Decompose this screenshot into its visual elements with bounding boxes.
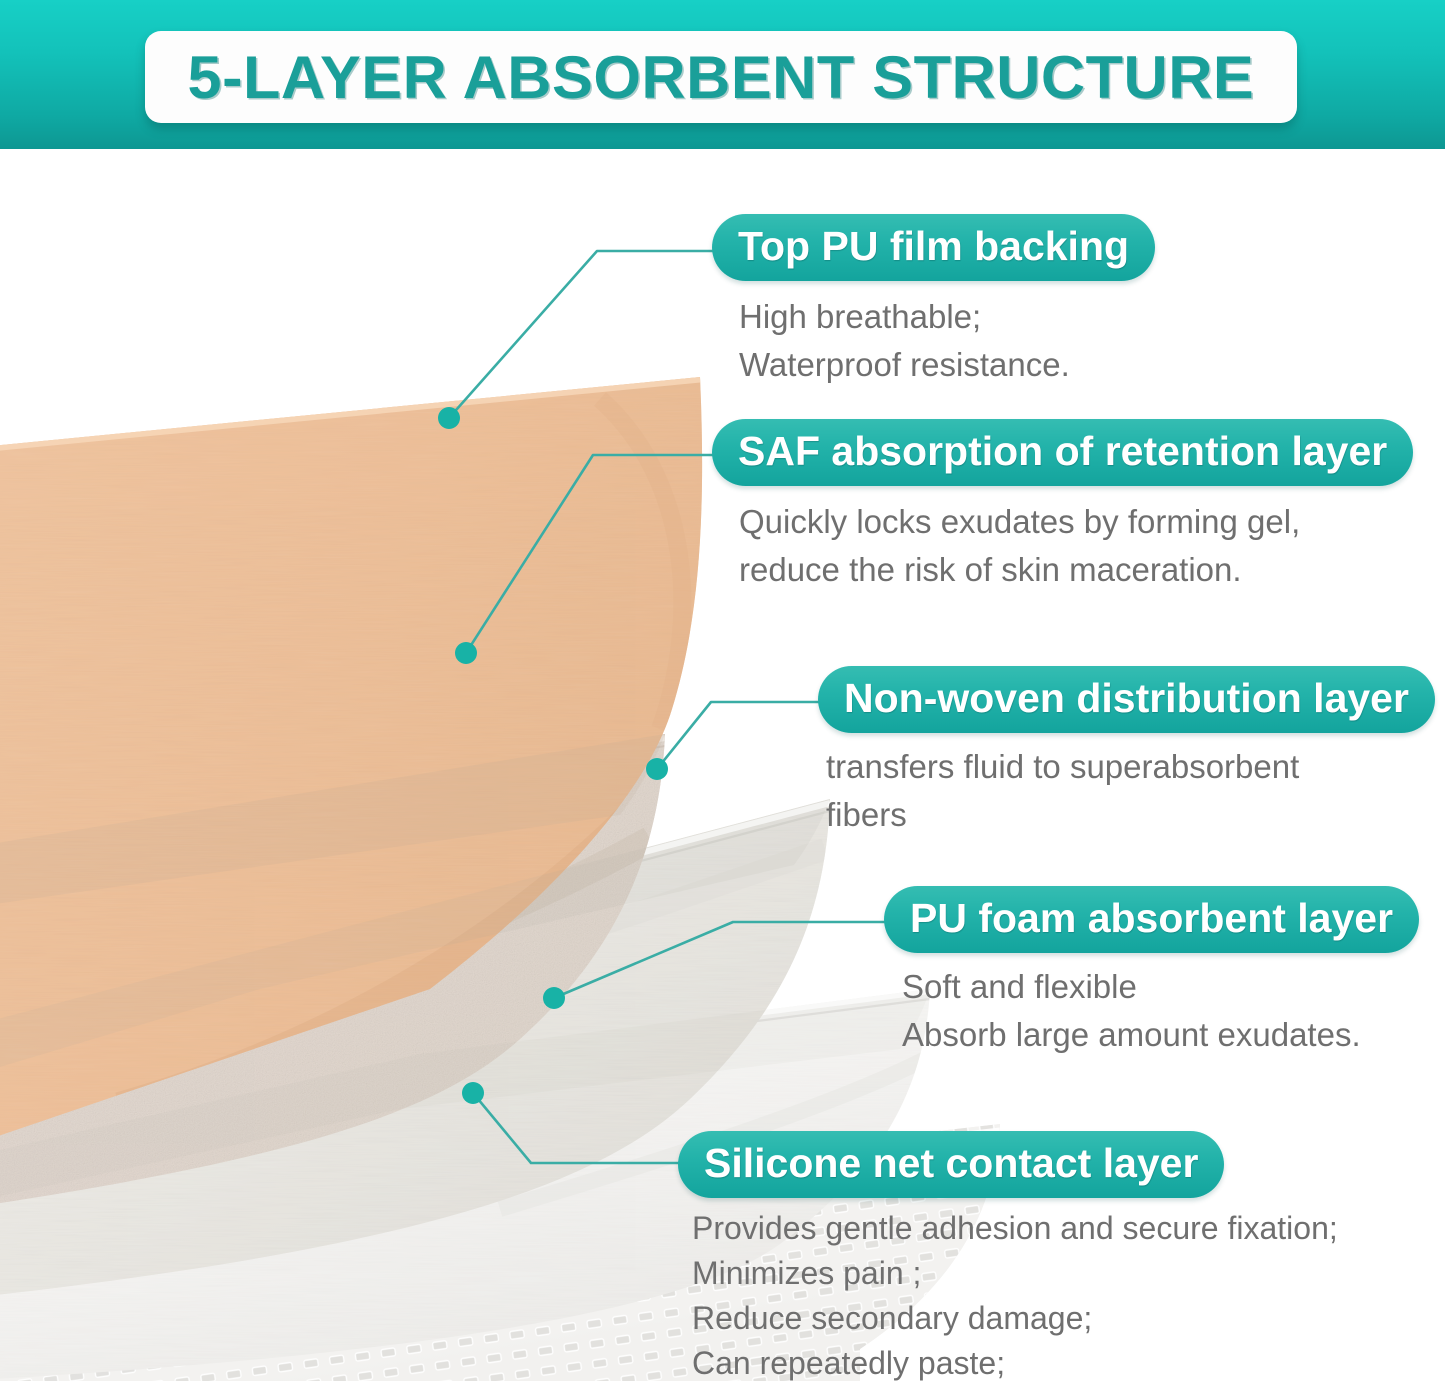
callout-body-5-line-3: Reduce secondary damage; (692, 1296, 1338, 1341)
callout-label-1: Top PU film backing (712, 214, 1155, 281)
callout-body-5: Provides gentle adhesion and secure fixa… (692, 1206, 1338, 1381)
callout-body-1: High breathable; Waterproof resistance. (739, 293, 1155, 389)
callout-pill-1[interactable]: Top PU film backing (712, 214, 1155, 281)
header-band: 5-LAYER ABSORBENT STRUCTURE (0, 0, 1445, 149)
callout-body-1-line-2: Waterproof resistance. (739, 341, 1155, 389)
callout-top-pu-film-backing: Top PU film backing High breathable; Wat… (712, 214, 1155, 389)
callout-body-2: Quickly locks exudates by forming gel, r… (739, 498, 1413, 594)
callout-label-3: Non-woven distribution layer (818, 666, 1435, 733)
callout-body-5-line-1: Provides gentle adhesion and secure fixa… (692, 1206, 1338, 1251)
callout-body-4-line-1: Soft and flexible (902, 963, 1419, 1011)
callout-non-woven-distribution-layer: Non-woven distribution layer transfers f… (818, 666, 1435, 839)
infographic-page: 5-LAYER ABSORBENT STRUCTURE (0, 0, 1445, 1381)
callout-label-4: PU foam absorbent layer (884, 886, 1419, 953)
callout-silicone-net-contact-layer: Silicone net contact layer Provides gent… (678, 1131, 1338, 1381)
callout-pu-foam-absorbent-layer: PU foam absorbent layer Soft and flexibl… (884, 886, 1419, 1059)
callout-body-1-line-1: High breathable; (739, 293, 1155, 341)
callout-body-3: transfers fluid to superabsorbent fibers (826, 743, 1435, 839)
callout-body-4: Soft and flexible Absorb large amount ex… (902, 963, 1419, 1059)
callout-label-5: Silicone net contact layer (678, 1131, 1224, 1198)
callout-body-5-line-4: Can repeatedly paste; (692, 1341, 1338, 1381)
callout-body-2-line-1: Quickly locks exudates by forming gel, (739, 498, 1413, 546)
callout-body-2-line-2: reduce the risk of skin maceration. (739, 546, 1413, 594)
callout-body-3-line-2: fibers (826, 791, 1435, 839)
callout-body-3-line-1: transfers fluid to superabsorbent (826, 743, 1435, 791)
callout-pill-5[interactable]: Silicone net contact layer (678, 1131, 1224, 1198)
callout-pill-3[interactable]: Non-woven distribution layer (818, 666, 1435, 733)
callout-body-4-line-2: Absorb large amount exudates. (902, 1011, 1419, 1059)
callout-saf-absorption-retention-layer: SAF absorption of retention layer Quickl… (712, 419, 1413, 594)
callout-pill-4[interactable]: PU foam absorbent layer (884, 886, 1419, 953)
callout-pill-2[interactable]: SAF absorption of retention layer (712, 419, 1413, 486)
page-title: 5-LAYER ABSORBENT STRUCTURE (188, 43, 1255, 112)
callout-label-2: SAF absorption of retention layer (712, 419, 1413, 486)
title-pill: 5-LAYER ABSORBENT STRUCTURE (145, 31, 1297, 123)
callout-body-5-line-2: Minimizes pain ; (692, 1251, 1338, 1296)
